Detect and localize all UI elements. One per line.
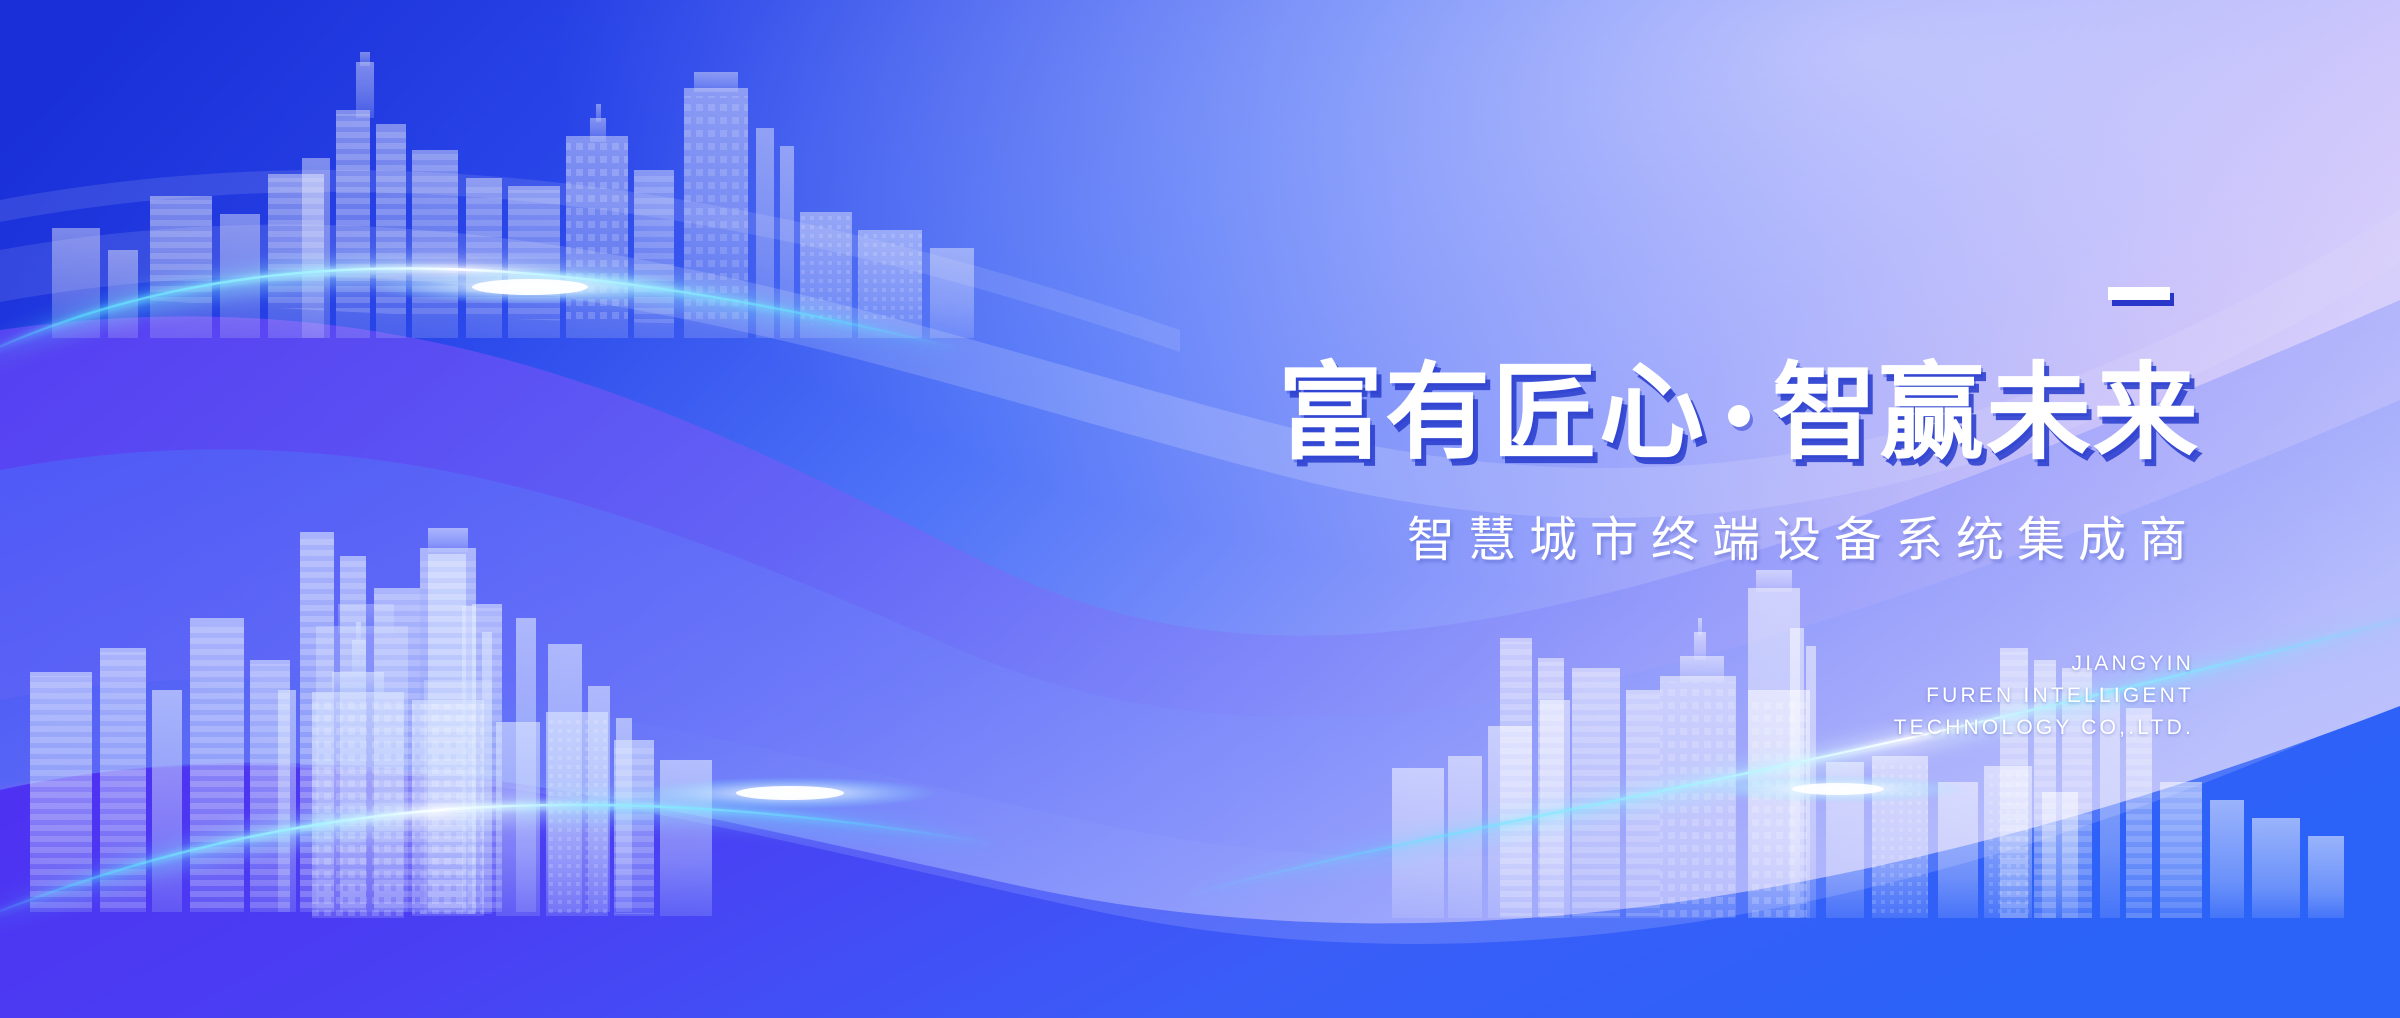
- promotional-banner: 富有匠心智赢未来 智慧城市终端设备系统集成商 JIANGYIN FUREN IN…: [0, 0, 2400, 1018]
- company-line-name: FUREN INTELLIGENT: [1894, 680, 2194, 712]
- company-line-city: JIANGYIN: [1894, 648, 2194, 680]
- text-content-layer: 富有匠心智赢未来 智慧城市终端设备系统集成商 JIANGYIN FUREN IN…: [0, 0, 2400, 1018]
- company-line-suffix: TECHNOLOGY CO,.LTD.: [1894, 712, 2194, 744]
- page-title: 富有匠心智赢未来: [1050, 358, 2200, 469]
- decorative-dash-mark: [2108, 287, 2170, 300]
- headline-left-phrase: 富有匠心: [1278, 355, 1706, 472]
- page-subtitle: 智慧城市终端设备系统集成商: [1100, 500, 2200, 570]
- company-name-block: JIANGYIN FUREN INTELLIGENT TECHNOLOGY CO…: [1894, 648, 2194, 744]
- headline-right-phrase: 智赢未来: [1772, 355, 2200, 472]
- headline-separator-dot: [1728, 405, 1750, 427]
